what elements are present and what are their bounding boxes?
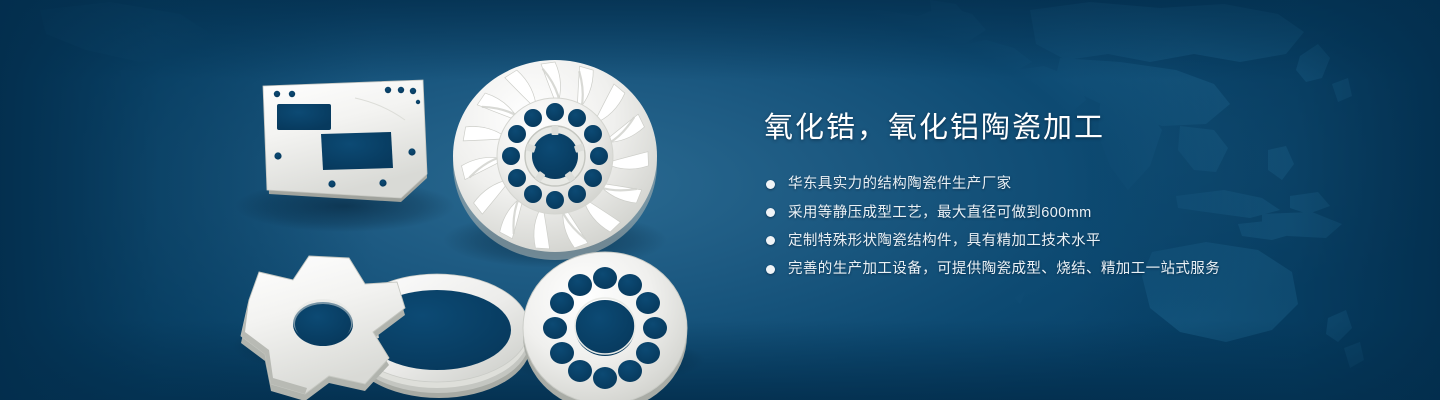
ceramic-impeller-disc	[453, 60, 657, 260]
list-item: 采用等静压成型工艺，最大直径可做到600mm	[766, 203, 1384, 223]
banner-copy: 氧化锆，氧化铝陶瓷加工 华东具实力的结构陶瓷件生产厂家 采用等静压成型工艺，最大…	[764, 110, 1384, 279]
bullet-dot-icon	[766, 208, 775, 217]
list-item: 华东具实力的结构陶瓷件生产厂家	[766, 174, 1384, 194]
bullet-text: 完善的生产加工设备，可提供陶瓷成型、烧结、精加工一站式服务	[788, 259, 1220, 279]
bullet-dot-icon	[766, 236, 775, 245]
bullet-dot-icon	[766, 180, 775, 189]
product-photo-cluster	[205, 28, 715, 380]
hero-banner: 氧化锆，氧化铝陶瓷加工 华东具实力的结构陶瓷件生产厂家 采用等静压成型工艺，最大…	[0, 0, 1440, 400]
list-item: 定制特殊形状陶瓷结构件，具有精加工技术水平	[766, 231, 1384, 251]
list-item: 完善的生产加工设备，可提供陶瓷成型、烧结、精加工一站式服务	[766, 259, 1384, 279]
bullet-text: 华东具实力的结构陶瓷件生产厂家	[788, 174, 1012, 194]
ceramic-mounting-plate	[263, 80, 427, 202]
bullet-dot-icon	[766, 265, 775, 274]
banner-headline: 氧化锆，氧化铝陶瓷加工	[764, 110, 1384, 146]
banner-feature-list: 华东具实力的结构陶瓷件生产厂家 采用等静压成型工艺，最大直径可做到600mm 定…	[766, 174, 1384, 279]
ceramic-valve-plate	[523, 252, 687, 400]
bullet-text: 定制特殊形状陶瓷结构件，具有精加工技术水平	[788, 231, 1101, 251]
bullet-text: 采用等静压成型工艺，最大直径可做到600mm	[788, 203, 1092, 223]
